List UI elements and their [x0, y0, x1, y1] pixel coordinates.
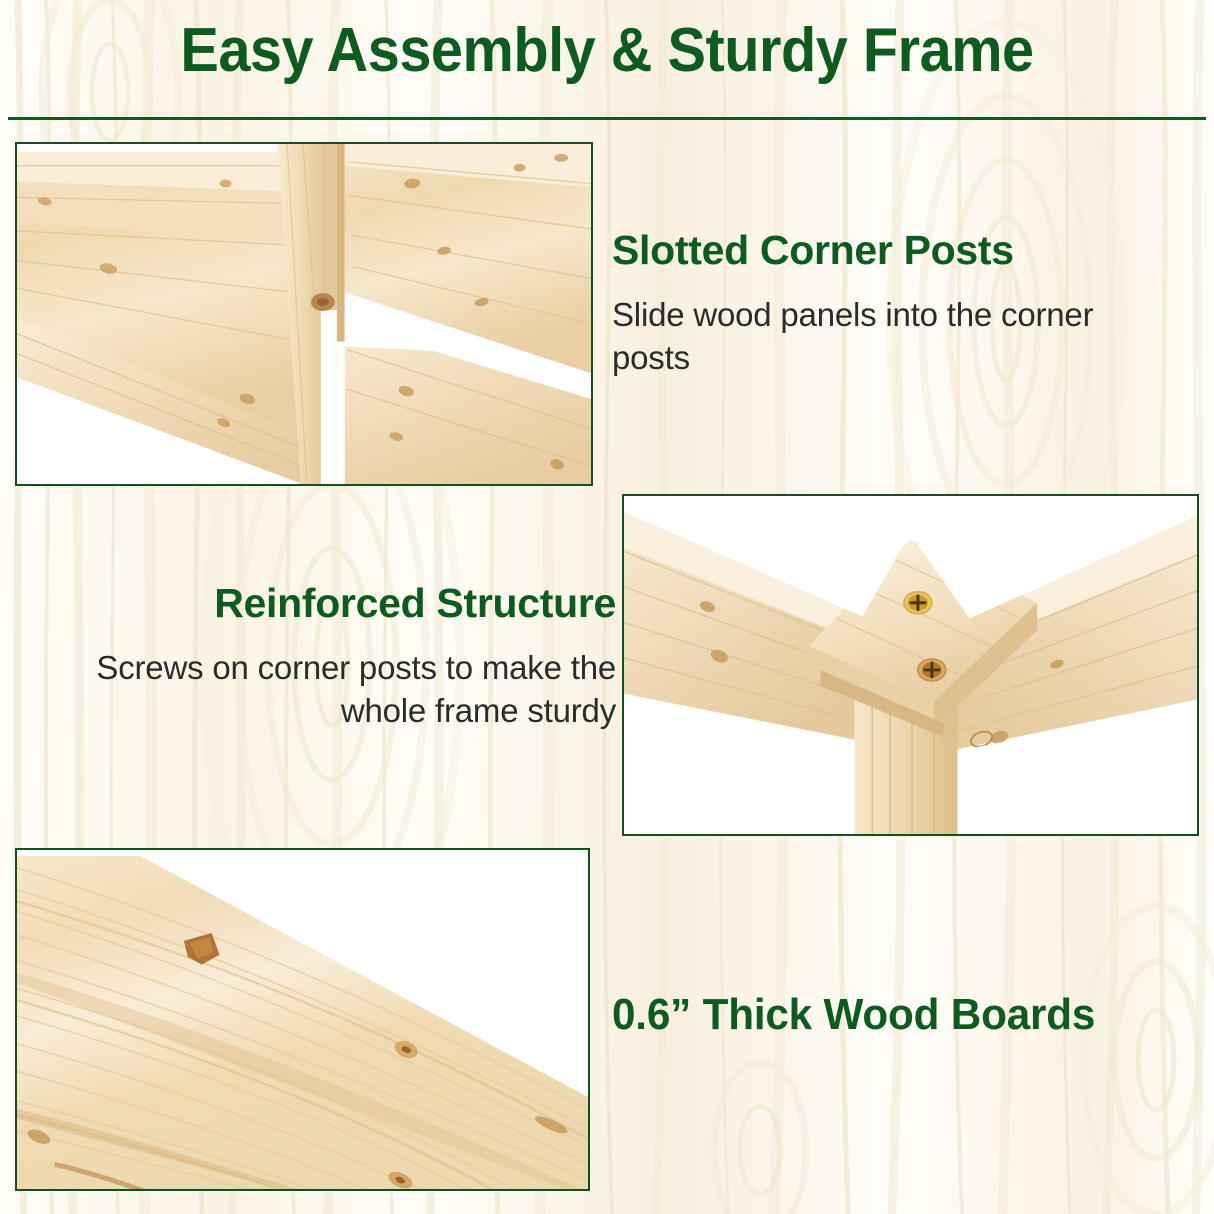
feature-text-slotted-corner-posts: Slotted Corner Posts Slide wood panels i… — [612, 225, 1172, 379]
feature-body-reinforced: Screws on corner posts to make the whole… — [96, 646, 616, 732]
feature-text-thick-wood-boards: 0.6” Thick Wood Boards — [612, 988, 1182, 1042]
feature-text-reinforced-structure: Reinforced Structure Screws on corner po… — [96, 578, 616, 732]
header: Easy Assembly & Sturdy Frame — [0, 0, 1214, 120]
photo-thick-wood-boards — [15, 848, 590, 1191]
screw-lower — [917, 658, 947, 682]
feature-heading-thickness: 0.6” Thick Wood Boards — [612, 988, 1159, 1042]
screw-upper — [903, 591, 933, 615]
feature-heading-slotted: Slotted Corner Posts — [612, 225, 1172, 275]
infographic-root: Easy Assembly & Sturdy Frame — [0, 0, 1214, 1214]
feature-body-slotted: Slide wood panels into the corner posts — [612, 293, 1172, 379]
page-title: Easy Assembly & Sturdy Frame — [42, 14, 1171, 88]
title-divider-rule — [8, 117, 1206, 120]
photo-slotted-corner-posts — [15, 142, 593, 486]
photo-reinforced-structure — [622, 494, 1199, 836]
feature-heading-reinforced: Reinforced Structure — [96, 578, 616, 628]
